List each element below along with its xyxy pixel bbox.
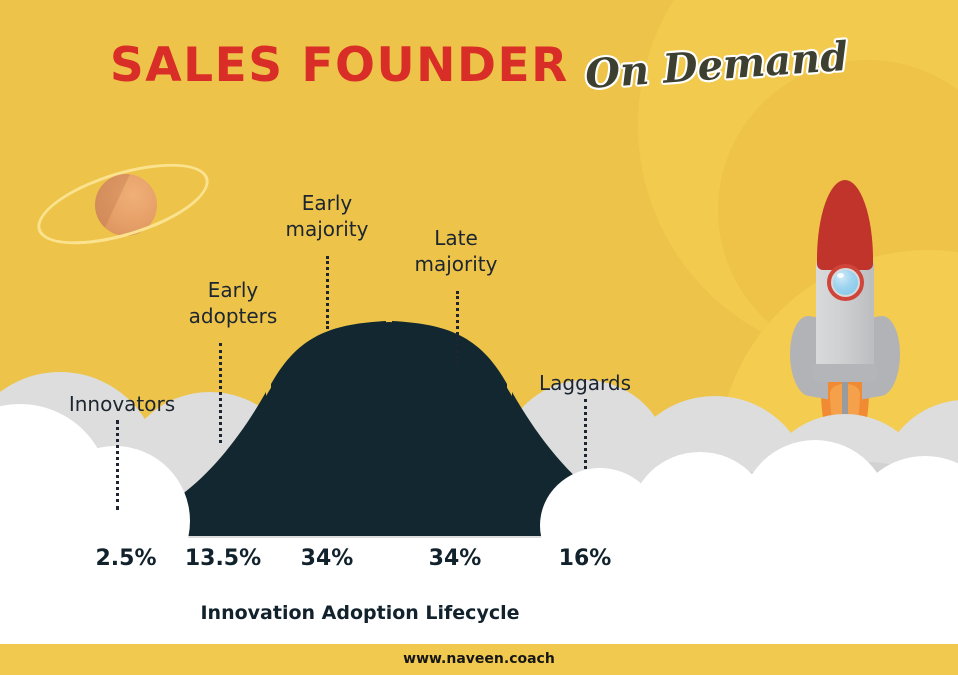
percent-late-majority: 34% bbox=[396, 546, 514, 571]
label-late-majority: Late majority bbox=[376, 226, 536, 277]
chart-caption: Innovation Adoption Lifecycle bbox=[0, 602, 720, 624]
label-innovators: Innovators bbox=[47, 392, 197, 418]
leader-innovators bbox=[116, 420, 119, 510]
label-early-adopters: Early adopters bbox=[153, 278, 313, 329]
label-laggards: Laggards bbox=[510, 371, 660, 397]
leader-late-majority bbox=[456, 291, 459, 364]
leader-laggards bbox=[584, 399, 587, 469]
footer-website: www.naveen.coach bbox=[0, 651, 958, 667]
leader-early-adopters bbox=[219, 343, 222, 443]
cloud-bank-front bbox=[0, 0, 958, 636]
percent-early-majority: 34% bbox=[268, 546, 386, 571]
leader-early-majority bbox=[326, 256, 329, 329]
percent-laggards: 16% bbox=[522, 546, 648, 571]
poster-canvas: SALES FOUNDEROn Demand Innovators Early … bbox=[0, 0, 958, 675]
